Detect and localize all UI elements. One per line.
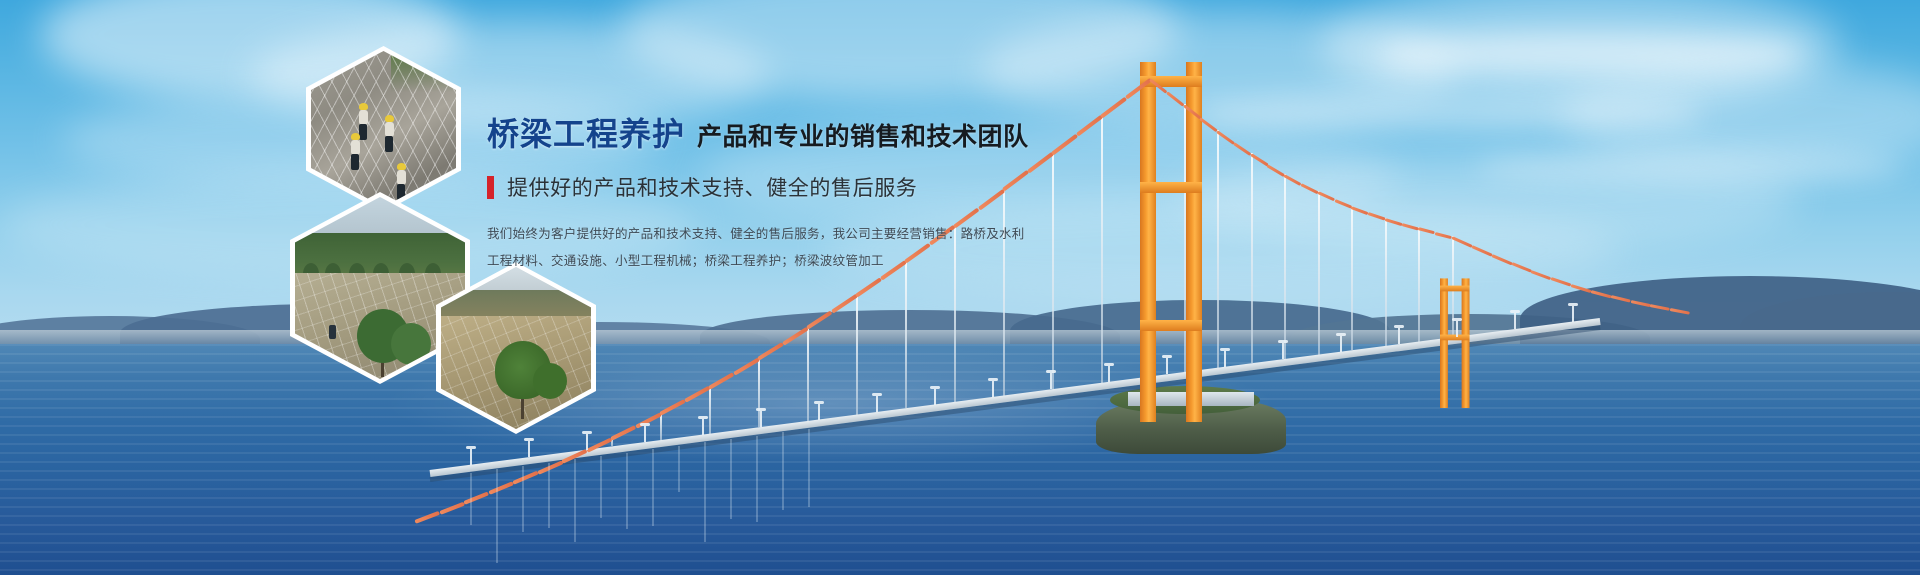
bridge-hanger: [1217, 130, 1219, 368]
bridge-hanger: [1351, 206, 1353, 350]
bridge-lamp: [470, 449, 472, 465]
worker-body: [359, 110, 368, 125]
water-reflection: [600, 456, 602, 518]
bridge-hanger: [1052, 152, 1054, 390]
tower-leg: [1462, 278, 1470, 408]
photo-wire-mesh-overlay: [311, 51, 456, 207]
tower-crossbeam: [1140, 182, 1202, 193]
bridge-lamp: [1456, 321, 1458, 337]
photo-ridge: [441, 290, 591, 319]
page-title: 桥梁工程养护产品和专业的销售和技术团队: [487, 118, 1047, 150]
bridge-lamp: [702, 419, 704, 435]
bridge-lamp: [644, 426, 646, 442]
bridge-tower-main: [1140, 62, 1202, 422]
description-line: 工程材料、交通设施、小型工程机械；桥梁工程养护；桥梁波纹管加工: [487, 251, 1047, 272]
bridge-hanger: [1101, 115, 1103, 383]
description-line: 我们始终为客户提供好的产品和技术支持、健全的售后服务，我公司主要经营销售：路桥及…: [487, 224, 1047, 245]
helmet-icon: [351, 133, 360, 140]
bridge-hanger: [1385, 218, 1387, 346]
tower-crossbeam: [1440, 335, 1470, 341]
bridge-lamp: [1398, 328, 1400, 344]
helmet-icon: [397, 163, 406, 170]
worker-body: [397, 170, 406, 185]
water-reflection: [496, 469, 498, 562]
bridge-lamp: [1340, 336, 1342, 352]
headline-secondary: 产品和专业的销售和技术团队: [697, 123, 1029, 151]
bridge-hanger: [905, 260, 907, 408]
water-reflection: [730, 439, 732, 519]
water-reflection: [808, 429, 810, 507]
accent-bar: [487, 176, 494, 199]
water-reflection: [626, 453, 628, 529]
bridge-hanger: [660, 412, 662, 440]
hero-banner: 桥梁工程养护产品和专业的销售和技术团队 提供好的产品和技术支持、健全的售后服务 …: [0, 0, 1920, 575]
bridge-hanger: [1418, 227, 1420, 341]
water-reflection: [782, 432, 784, 510]
tower-leg: [1140, 62, 1156, 422]
water-reflection: [574, 459, 576, 541]
bridge-lamp: [818, 404, 820, 420]
subheadline: 提供好的产品和技术支持、健全的售后服务: [487, 172, 1047, 202]
photo-rock-slope-mesh-installation: [311, 51, 456, 207]
water-reflection: [756, 436, 758, 523]
headline-primary: 桥梁工程养护: [487, 116, 685, 152]
bridge-lamp: [992, 381, 994, 397]
bridge-tower-far: [1440, 278, 1469, 408]
hexagon-photo-rock-slope-mesh-installation: [306, 46, 461, 212]
bridge-lamp: [876, 396, 878, 412]
water-reflection: [470, 473, 472, 526]
water-reflection: [522, 466, 524, 532]
bridge-lamp: [1572, 306, 1574, 322]
tower-crossbeam: [1440, 286, 1470, 292]
bridge-lamp: [1224, 351, 1226, 367]
water-reflection: [548, 463, 550, 529]
helmet-icon: [385, 115, 394, 122]
banner-text-block: 桥梁工程养护产品和专业的销售和技术团队 提供好的产品和技术支持、健全的售后服务 …: [487, 118, 1047, 277]
hexagon-photo-inner: [311, 51, 456, 207]
bridge-lamp: [934, 389, 936, 405]
water-reflection: [678, 446, 680, 492]
bridge-hanger: [856, 294, 858, 415]
tree: [533, 363, 567, 399]
bridge-hanger: [709, 386, 711, 434]
worker-legs: [359, 124, 367, 140]
bridge-lamp: [1166, 358, 1168, 374]
bridge-lamp: [1108, 366, 1110, 382]
bridge-lamp: [760, 411, 762, 427]
bridge-lamp: [1282, 343, 1284, 359]
subheadline-text: 提供好的产品和技术支持、健全的售后服务: [507, 172, 917, 202]
bridge-lamp: [528, 441, 530, 457]
tower-leg: [1440, 278, 1448, 408]
bridge-lamp: [1514, 313, 1516, 329]
worker-legs: [385, 136, 393, 152]
worker-figure: [329, 325, 336, 339]
hexagon-photo-inner: [441, 267, 591, 429]
water-reflection: [652, 449, 654, 525]
worker-body: [385, 122, 394, 137]
photo-slope-revegetation-mesh: [441, 267, 591, 429]
bridge-lamp: [1050, 373, 1052, 389]
worker-legs: [351, 154, 359, 170]
bridge-hanger: [1251, 153, 1253, 363]
bridge-hanger: [1318, 191, 1320, 354]
worker-legs: [397, 184, 405, 200]
bridge-hanger: [1284, 174, 1286, 359]
banner-description: 我们始终为客户提供好的产品和技术支持、健全的售后服务，我公司主要经营销售：路桥及…: [487, 224, 1047, 271]
helmet-icon: [359, 103, 368, 110]
bridge-hanger: [807, 326, 809, 421]
water-reflection: [704, 442, 706, 541]
tower-crossbeam: [1140, 320, 1202, 331]
bridge-lamp: [586, 434, 588, 450]
shrub: [391, 323, 431, 365]
worker-body: [351, 140, 360, 155]
